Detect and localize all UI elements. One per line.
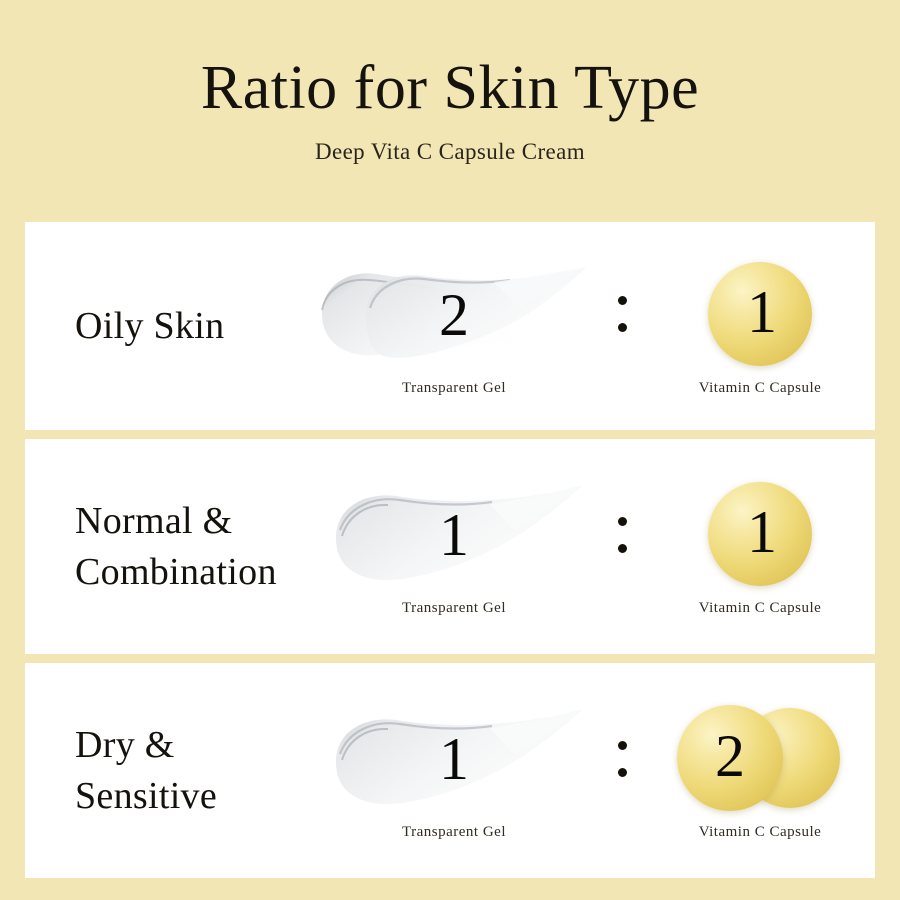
gel-amount: 2 — [439, 285, 469, 345]
page-header: Ratio for Skin Type Deep Vita C Capsule … — [0, 0, 900, 165]
gel-caption: Transparent Gel — [402, 380, 506, 397]
gel-side: 1 Transparent Gel — [309, 476, 599, 617]
capsule-amount: 2 — [715, 726, 745, 786]
gel-visual: 2 — [309, 256, 599, 374]
skin-type-label-oily-skin: Oily Skin — [25, 301, 309, 352]
capsule-amount: 1 — [747, 282, 777, 342]
skin-type-label-dry-sensitive: Dry & Sensitive — [25, 720, 309, 821]
colon-dot-upper — [618, 517, 627, 526]
skin-type-label-line: Combination — [75, 547, 309, 598]
capsule-visual: 1 — [645, 476, 875, 594]
capsule-side: 1 Vitamin C Capsule — [645, 476, 875, 617]
skin-type-label-line: Normal & — [75, 496, 309, 547]
ratio-card-oily-skin: Oily Skin — [25, 222, 875, 430]
gel-side: 2 Transparent Gel — [309, 256, 599, 397]
colon-dot-lower — [618, 323, 627, 332]
ratio-separator — [599, 255, 645, 373]
gel-visual: 1 — [309, 476, 599, 594]
ratio-card-dry-sensitive: Dry & Sensitive — [25, 663, 875, 878]
ratio-separator — [599, 700, 645, 818]
capsule-caption: Vitamin C Capsule — [699, 380, 822, 397]
capsule-caption: Vitamin C Capsule — [699, 600, 822, 617]
gel-visual: 1 — [309, 700, 599, 818]
capsule-side: 2 Vitamin C Capsule — [645, 700, 875, 841]
page-subtitle: Deep Vita C Capsule Cream — [0, 139, 900, 165]
colon-dot-lower — [618, 768, 627, 777]
capsule-amount: 1 — [747, 502, 777, 562]
gel-amount: 1 — [439, 505, 469, 565]
colon-dot-upper — [618, 296, 627, 305]
capsule-side: 1 Vitamin C Capsule — [645, 256, 875, 397]
skin-type-label-normal-combination: Normal & Combination — [25, 496, 309, 597]
capsule-visual: 1 — [645, 256, 875, 374]
skin-type-label-line: Sensitive — [75, 771, 309, 822]
skin-type-label-line: Oily Skin — [75, 301, 309, 352]
capsule-caption: Vitamin C Capsule — [699, 824, 822, 841]
ratio-area: 1 Transparent Gel 1 Vitamin C Capsule — [309, 439, 875, 654]
gel-amount: 1 — [439, 729, 469, 789]
skin-type-label-line: Dry & — [75, 720, 309, 771]
ratio-area: 2 Transparent Gel 1 Vitamin C Capsule — [309, 222, 875, 430]
colon-dot-upper — [618, 741, 627, 750]
page-title: Ratio for Skin Type — [0, 56, 900, 121]
gel-side: 1 Transparent Gel — [309, 700, 599, 841]
vitamin-c-capsule-icon — [645, 700, 875, 818]
ratio-area: 1 Transparent Gel 2 Vitamin C Capsule — [309, 663, 875, 878]
capsule-visual: 2 — [645, 700, 875, 818]
gel-caption: Transparent Gel — [402, 824, 506, 841]
ratio-separator — [599, 476, 645, 594]
colon-dot-lower — [618, 544, 627, 553]
ratio-card-normal-combination: Normal & Combination — [25, 439, 875, 654]
ratio-card-list: Oily Skin — [25, 222, 875, 878]
gel-caption: Transparent Gel — [402, 600, 506, 617]
